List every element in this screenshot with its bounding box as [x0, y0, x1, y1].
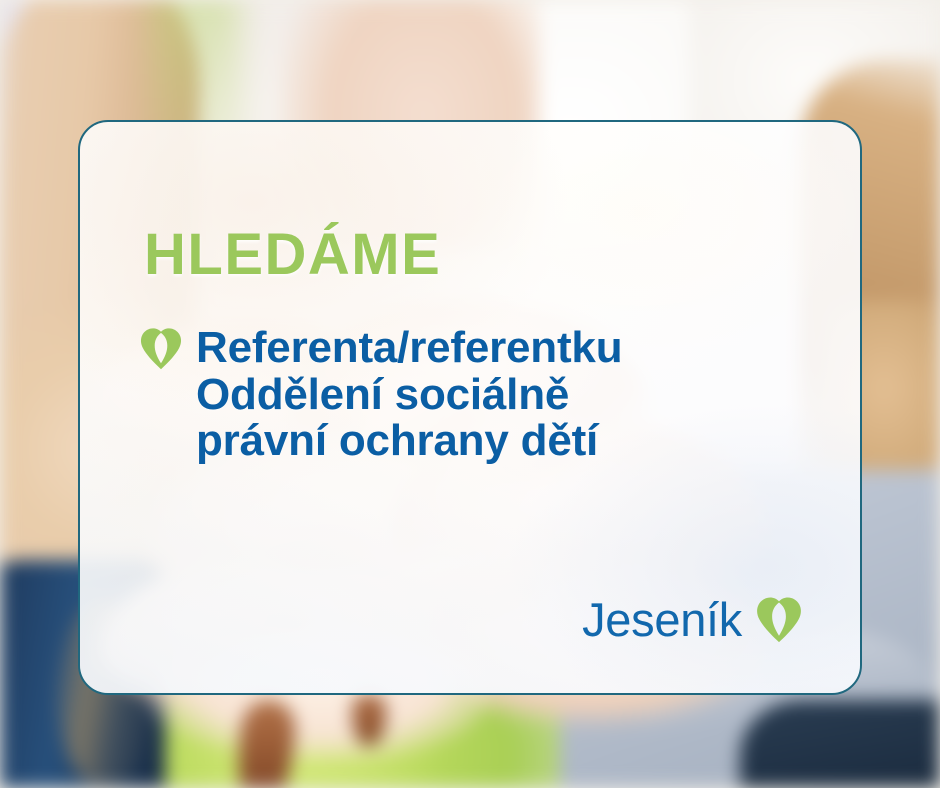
job-title-text-3: právní ochrany dětí [196, 418, 830, 465]
job-title-block: Referenta/referentku Oddělení sociálně p… [140, 325, 830, 465]
logo-wordmark: Jeseník [582, 596, 742, 643]
job-title-remaining-lines: Oddělení sociálně právní ochrany dětí [196, 372, 830, 465]
job-title-line-1: Referenta/referentku [140, 325, 830, 372]
poster-canvas: HLEDÁME Referenta/referentku Oddělení so… [0, 0, 940, 788]
content-card: HLEDÁME Referenta/referentku Oddělení so… [78, 120, 862, 695]
heart-icon [140, 326, 182, 370]
heart-icon [756, 595, 802, 643]
job-title-text-1: Referenta/referentku [196, 325, 622, 372]
kicker-heading: HLEDÁME [144, 226, 441, 284]
jesenik-logo: Jeseník [582, 595, 802, 643]
job-title-text-2: Oddělení sociálně [196, 372, 830, 419]
